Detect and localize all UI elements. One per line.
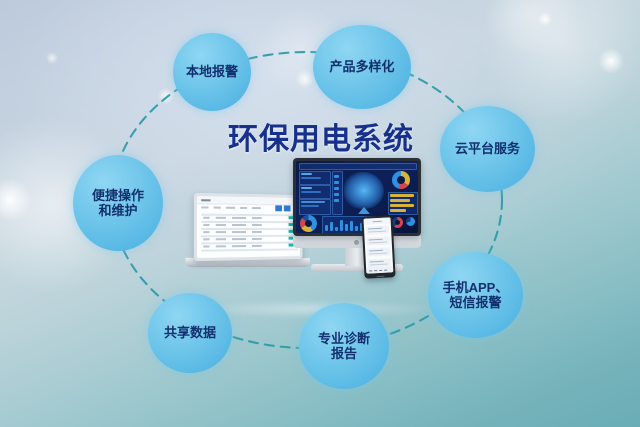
laptop <box>194 193 303 261</box>
bubble-shared-data[interactable]: 共享数据 <box>148 293 232 373</box>
phone-screen <box>364 217 394 273</box>
bubble-mobile-sms-alarm[interactable]: 手机APP、 短信报警 <box>428 252 523 338</box>
bubble-cloud-platform[interactable]: 云平台服务 <box>440 106 535 192</box>
bubble-label-diagnostic-report-line2: 报告 <box>318 346 370 361</box>
bubble-local-alarm[interactable]: 本地报警 <box>173 33 251 111</box>
page-title: 环保用电系统 <box>228 114 414 158</box>
laptop-screen <box>197 196 300 258</box>
bubble-label-shared-data: 共享数据 <box>164 325 216 340</box>
bubble-label-product-diversity: 产品多样化 <box>329 59 394 74</box>
poster-canvas: 环保用电系统 本地报警 产品多样化 云平台服务 手机APP、 短信报警 专业诊断… <box>0 0 640 427</box>
bubble-label-diagnostic-report-line1: 专业诊断 <box>318 331 370 346</box>
device-cluster <box>183 158 443 318</box>
bubble-label-mobile-sms-alarm-line1: 手机APP、 <box>443 280 509 295</box>
phone-home-indicator <box>376 275 384 277</box>
bubble-label-easy-operation-line1: 便捷操作 <box>92 188 144 203</box>
monitor-logo <box>354 240 359 245</box>
bubble-label-mobile-sms-alarm-line2: 短信报警 <box>443 295 509 310</box>
bubble-diagnostic-report[interactable]: 专业诊断 报告 <box>299 303 389 389</box>
bubble-easy-operation[interactable]: 便捷操作 和维护 <box>73 155 163 251</box>
bubble-label-easy-operation-line2: 和维护 <box>92 203 144 218</box>
desktop-monitor <box>293 158 421 236</box>
bubble-product-diversity[interactable]: 产品多样化 <box>313 25 411 109</box>
bubble-label-local-alarm: 本地报警 <box>186 64 238 79</box>
smartphone <box>361 215 395 279</box>
monitor-screen <box>296 161 418 233</box>
china-map-visual <box>344 172 384 209</box>
bubble-label-cloud-platform: 云平台服务 <box>455 141 520 156</box>
